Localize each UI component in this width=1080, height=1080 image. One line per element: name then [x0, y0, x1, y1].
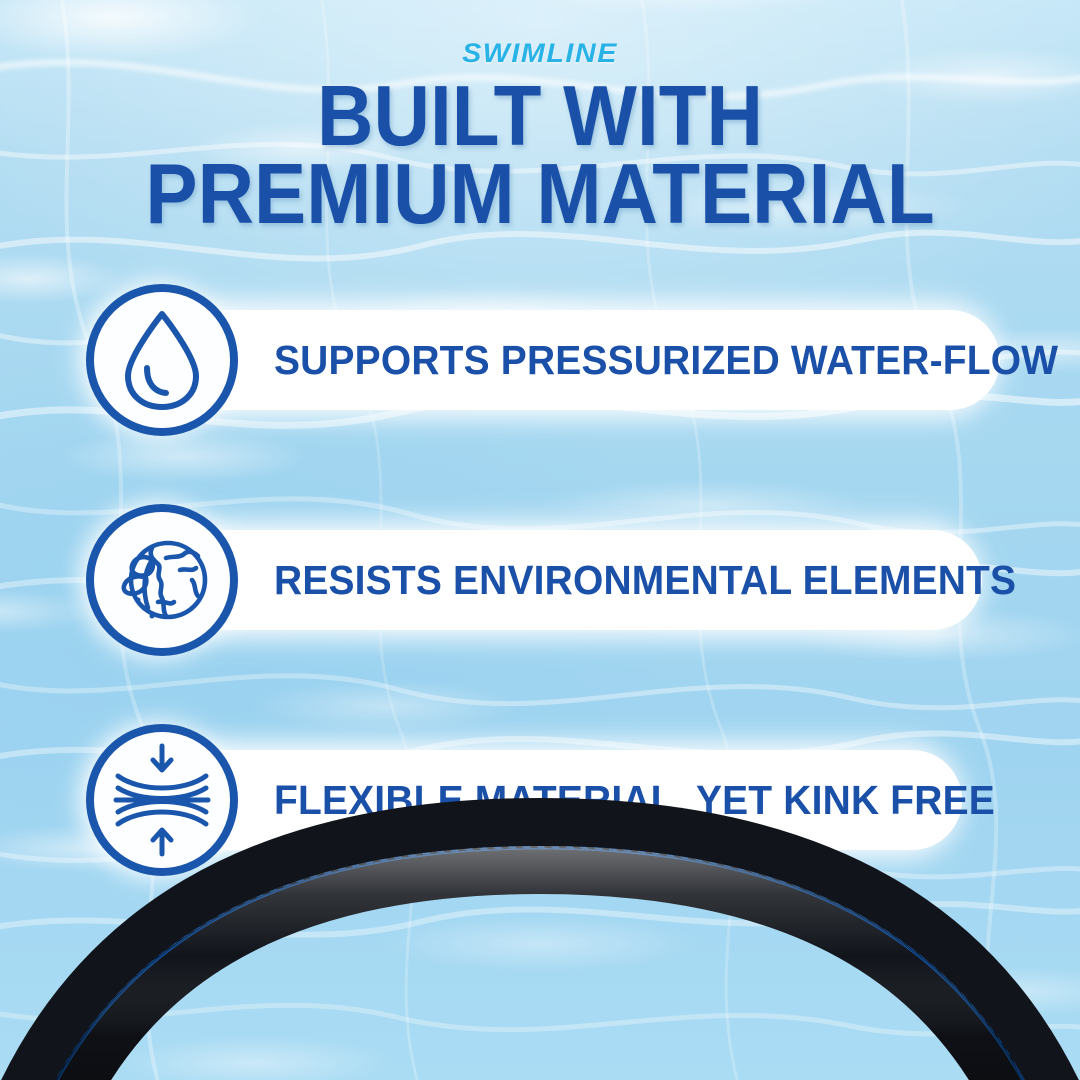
- water-drop-icon: [114, 308, 210, 412]
- feature-icon-circle: [86, 504, 238, 656]
- page-title: BUILT WITH PREMIUM MATERIAL: [0, 78, 1080, 234]
- feature-label: RESISTS ENVIRONMENTAL ELEMENTS: [274, 557, 1016, 604]
- page-title-line-1: BUILT WITH: [43, 78, 1037, 156]
- feature-row-water-flow: SUPPORTS PRESSURIZED WATER-FLOW: [78, 280, 1018, 440]
- feature-label: SUPPORTS PRESSURIZED WATER-FLOW: [274, 337, 1058, 384]
- swimline-logo: SWIMLINE: [0, 38, 1080, 69]
- feature-pill: RESISTS ENVIRONMENTAL ELEMENTS: [170, 530, 982, 630]
- feature-pill: SUPPORTS PRESSURIZED WATER-FLOW: [170, 310, 1000, 410]
- product-image-hose: [0, 780, 1080, 1080]
- promo-banner: SWIMLINE BUILT WITH PREMIUM MATERIAL SUP…: [0, 0, 1080, 1080]
- page-title-line-2: PREMIUM MATERIAL: [43, 156, 1037, 234]
- feature-row-environmental: RESISTS ENVIRONMENTAL ELEMENTS: [78, 500, 1018, 660]
- corrugated-hose-graphic: [0, 780, 1080, 1080]
- feature-icon-circle: [86, 284, 238, 436]
- globe-leaf-icon: [108, 528, 216, 632]
